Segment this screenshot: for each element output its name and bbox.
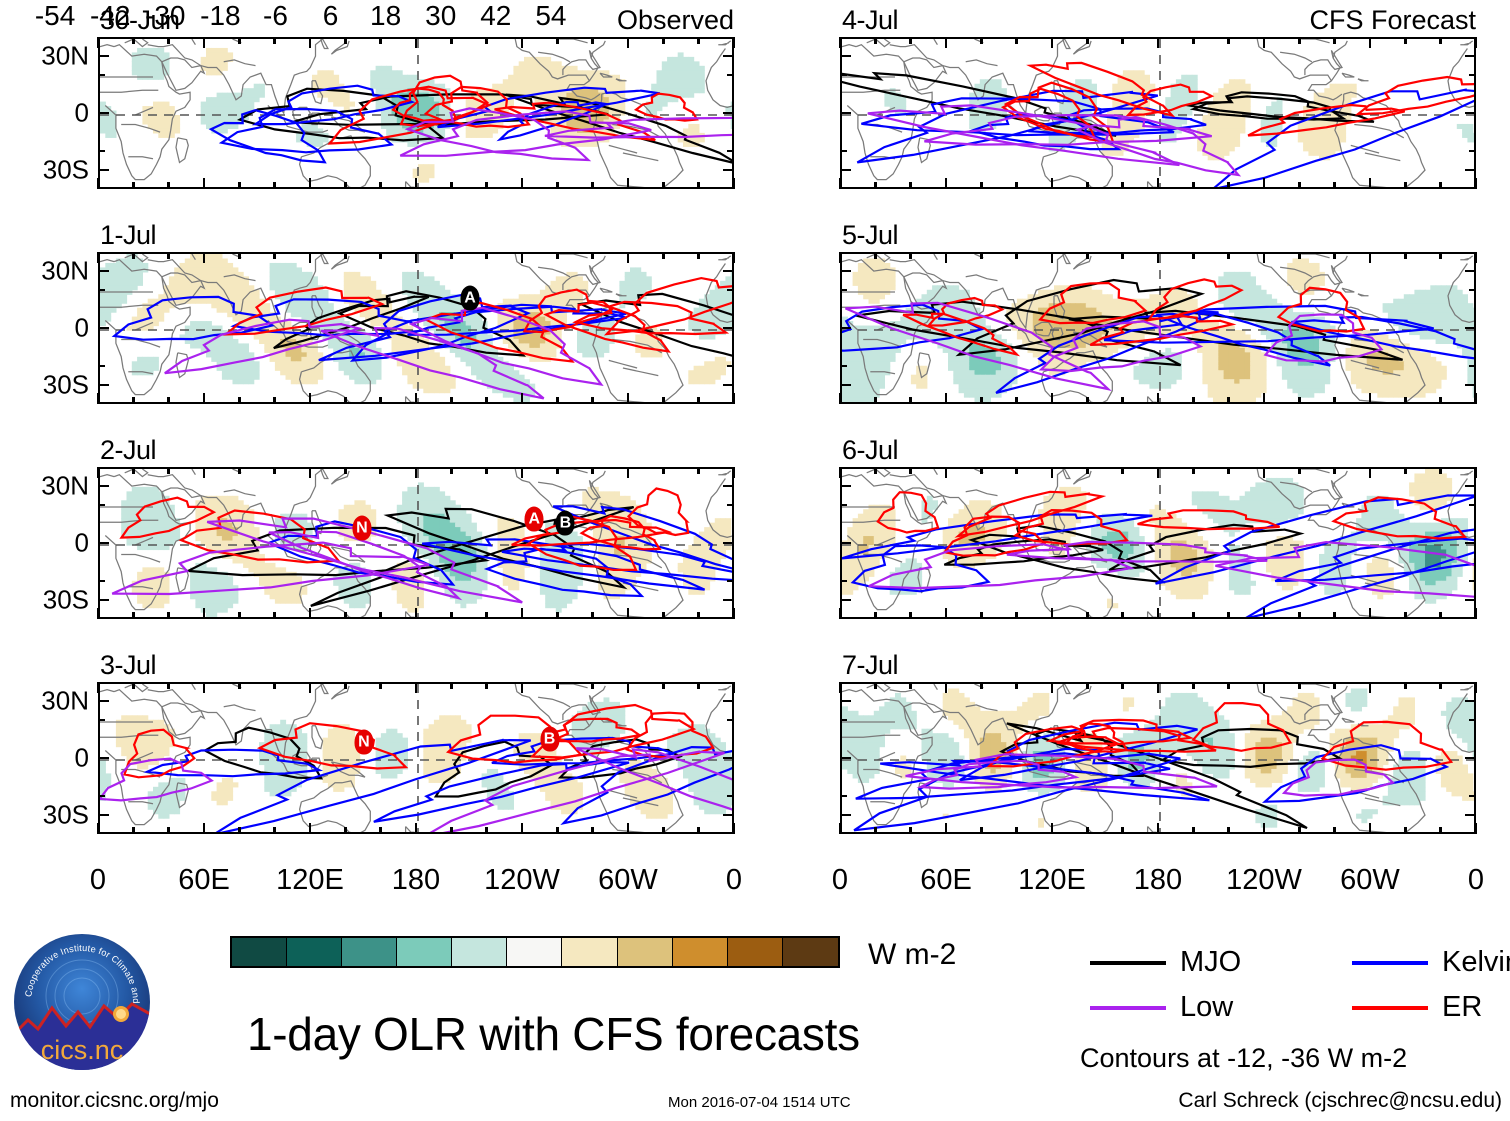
x-tick-major [1157, 467, 1160, 478]
contour-note: Contours at -12, -36 W m-2 [1080, 1043, 1407, 1074]
x-tick-major [1263, 467, 1266, 478]
x-tick-major [627, 178, 630, 189]
x-tick-minor [273, 37, 276, 44]
x-tick-major [521, 393, 524, 404]
y-tick-minor [98, 719, 105, 722]
x-tick-minor [874, 682, 877, 689]
x-tick-major [309, 608, 312, 619]
x-tick-minor [556, 827, 559, 834]
x-tick-major [945, 393, 948, 404]
storm-marker-n: N [354, 730, 373, 755]
x-tick-minor [909, 467, 912, 474]
colorbar-tick-label: -18 [200, 0, 240, 32]
x-tick-minor [662, 252, 665, 259]
x-tick-minor [1121, 397, 1124, 404]
x-tick-minor [1333, 252, 1336, 259]
y-tick-minor [1469, 580, 1476, 583]
x-tick-minor [1439, 182, 1442, 189]
y-axis-label: 0 [75, 313, 89, 344]
colorbar-band [562, 938, 617, 966]
x-tick-minor [132, 827, 135, 834]
x-tick-minor [556, 467, 559, 474]
x-tick-minor [238, 682, 241, 689]
x-tick-minor [485, 397, 488, 404]
x-tick-minor [1015, 182, 1018, 189]
y-tick [1465, 327, 1476, 330]
x-tick-minor [1121, 252, 1124, 259]
x-tick-minor [273, 252, 276, 259]
x-tick-minor [697, 37, 700, 44]
x-tick-major [733, 252, 736, 263]
x-tick-major [97, 37, 100, 48]
x-tick-minor [591, 182, 594, 189]
olr-anomaly-map [98, 252, 734, 404]
x-tick-minor [1439, 252, 1442, 259]
y-tick [1465, 757, 1476, 760]
y-tick [1465, 384, 1476, 387]
x-tick-major [415, 682, 418, 693]
olr-anomaly-map [840, 37, 1476, 189]
x-tick-minor [379, 612, 382, 619]
x-tick-minor [556, 182, 559, 189]
y-tick-minor [727, 719, 734, 722]
x-tick-minor [1192, 612, 1195, 619]
y-tick-minor [1469, 719, 1476, 722]
colorbar-ticklabels: -54-42-30-18-6618304254 [0, 0, 606, 36]
x-tick-minor [167, 612, 170, 619]
y-tick [723, 485, 734, 488]
y-tick [723, 757, 734, 760]
x-tick-minor [167, 467, 170, 474]
y-tick [98, 112, 109, 115]
x-tick-major [1051, 178, 1054, 189]
y-tick [840, 599, 851, 602]
x-tick-major [733, 178, 736, 189]
y-tick [723, 169, 734, 172]
x-tick-minor [874, 827, 877, 834]
footer-url[interactable]: monitor.cicsnc.org/mjo [10, 1089, 219, 1113]
y-tick-minor [840, 150, 847, 153]
x-tick-minor [344, 182, 347, 189]
x-tick-minor [132, 37, 135, 44]
panel-30-jun: 30-JunObserved30N030S [98, 37, 734, 189]
x-tick-major [627, 252, 630, 263]
x-tick-minor [1192, 397, 1195, 404]
y-tick-minor [840, 504, 847, 507]
colorbar-band [673, 938, 728, 966]
x-tick-minor [132, 612, 135, 619]
x-tick-minor [1121, 182, 1124, 189]
x-tick-major [1051, 393, 1054, 404]
x-tick-minor [874, 397, 877, 404]
x-tick-minor [697, 397, 700, 404]
x-tick-minor [238, 182, 241, 189]
panel-3-jul: 3-Jul30N030SNB [98, 682, 734, 834]
x-tick-major [1475, 823, 1478, 834]
y-axis-label: 30S [43, 155, 89, 186]
y-tick [1465, 485, 1476, 488]
y-tick [840, 485, 851, 488]
x-tick-minor [1404, 612, 1407, 619]
olr-anomaly-map [98, 37, 734, 189]
x-tick-minor [591, 467, 594, 474]
y-tick-minor [1469, 289, 1476, 292]
x-tick-major [1263, 608, 1266, 619]
y-tick-minor [727, 795, 734, 798]
x-tick-minor [874, 612, 877, 619]
x-tick-minor [1333, 397, 1336, 404]
x-tick-minor [1298, 827, 1301, 834]
x-tick-major [1263, 252, 1266, 263]
footer-author: Carl Schreck (cjschrec@ncsu.edu) [1178, 1089, 1502, 1113]
x-tick-minor [238, 467, 241, 474]
x-tick-minor [379, 682, 382, 689]
x-tick-minor [238, 827, 241, 834]
y-axis-label: 30S [43, 800, 89, 831]
x-axis-label: 60E [178, 864, 230, 897]
x-tick-minor [556, 252, 559, 259]
x-axis-label: 180 [392, 864, 440, 897]
x-tick-major [945, 682, 948, 693]
x-tick-major [839, 37, 842, 48]
x-tick-major [97, 823, 100, 834]
x-tick-major [1157, 682, 1160, 693]
x-tick-minor [1298, 682, 1301, 689]
y-tick-minor [1469, 795, 1476, 798]
y-tick [1465, 169, 1476, 172]
x-tick-minor [591, 612, 594, 619]
x-tick-minor [450, 612, 453, 619]
x-tick-minor [485, 467, 488, 474]
x-tick-minor [556, 612, 559, 619]
panel-date-label: 4-Jul [842, 5, 898, 36]
x-tick-minor [591, 37, 594, 44]
x-tick-minor [980, 37, 983, 44]
y-axis-label: 0 [75, 98, 89, 129]
x-tick-major [1263, 682, 1266, 693]
x-tick-major [97, 608, 100, 619]
x-tick-minor [1227, 397, 1230, 404]
panel-6-jul: 6-Jul [840, 467, 1476, 619]
colorbar-band [342, 938, 397, 966]
colorbar-units-label: W m-2 [868, 938, 956, 972]
x-tick-minor [167, 397, 170, 404]
x-tick-minor [132, 682, 135, 689]
y-tick [98, 55, 109, 58]
x-tick-minor [1086, 252, 1089, 259]
x-tick-major [1157, 37, 1160, 48]
x-tick-minor [379, 827, 382, 834]
x-tick-minor [1404, 397, 1407, 404]
x-tick-major [97, 682, 100, 693]
x-tick-minor [980, 827, 983, 834]
x-tick-minor [980, 682, 983, 689]
legend-line-swatch [1090, 1006, 1166, 1010]
x-tick-major [945, 178, 948, 189]
x-tick-major [1475, 608, 1478, 619]
y-tick [1465, 814, 1476, 817]
x-tick-major [839, 178, 842, 189]
x-tick-major [627, 393, 630, 404]
x-axis-label: 60W [598, 864, 658, 897]
x-tick-major [1475, 393, 1478, 404]
x-tick-minor [273, 612, 276, 619]
x-tick-minor [1333, 612, 1336, 619]
y-tick [723, 384, 734, 387]
x-tick-minor [450, 827, 453, 834]
olr-anomaly-map [840, 467, 1476, 619]
y-tick-minor [98, 289, 105, 292]
x-tick-minor [909, 397, 912, 404]
x-tick-minor [1227, 682, 1230, 689]
panel-date-label: 3-Jul [100, 650, 156, 681]
x-tick-minor [874, 252, 877, 259]
panel-date-label: 1-Jul [100, 220, 156, 251]
y-tick-minor [727, 74, 734, 77]
x-tick-minor [344, 612, 347, 619]
x-axis-label: 120W [484, 864, 560, 897]
x-tick-minor [379, 397, 382, 404]
x-tick-major [415, 178, 418, 189]
x-tick-major [1051, 252, 1054, 263]
x-tick-minor [591, 682, 594, 689]
y-tick [1465, 700, 1476, 703]
x-tick-major [1263, 37, 1266, 48]
x-tick-minor [238, 252, 241, 259]
x-tick-minor [1192, 182, 1195, 189]
x-tick-minor [1227, 182, 1230, 189]
x-tick-minor [1086, 682, 1089, 689]
x-tick-minor [379, 252, 382, 259]
x-tick-major [521, 252, 524, 263]
x-axis-right: 060E120E180120W60W0 [840, 850, 1476, 902]
x-tick-major [309, 682, 312, 693]
x-tick-minor [1298, 37, 1301, 44]
x-tick-minor [1227, 467, 1230, 474]
x-tick-minor [662, 37, 665, 44]
x-tick-minor [909, 827, 912, 834]
x-tick-major [1157, 178, 1160, 189]
x-tick-minor [697, 827, 700, 834]
x-tick-major [521, 178, 524, 189]
legend-item-kelvin: Kelvin [1352, 948, 1510, 977]
x-tick-minor [697, 467, 700, 474]
y-tick-minor [1469, 150, 1476, 153]
x-tick-minor [1121, 37, 1124, 44]
x-tick-minor [450, 467, 453, 474]
x-tick-major [1475, 682, 1478, 693]
x-tick-minor [450, 397, 453, 404]
legend-item-low: Low [1090, 993, 1233, 1022]
x-tick-minor [1015, 682, 1018, 689]
x-tick-major [309, 467, 312, 478]
x-tick-minor [1086, 612, 1089, 619]
x-axis-left: 060E120E180120W60W0 [98, 850, 734, 902]
y-tick [98, 327, 109, 330]
colorbar-band [728, 938, 783, 966]
y-tick [98, 485, 109, 488]
x-tick-minor [273, 182, 276, 189]
x-tick-minor [1121, 827, 1124, 834]
y-tick [1465, 112, 1476, 115]
x-tick-minor [344, 467, 347, 474]
x-tick-minor [485, 682, 488, 689]
x-tick-major [203, 823, 206, 834]
y-axis-label: 30N [41, 256, 89, 287]
x-tick-major [521, 823, 524, 834]
colorbar-band [287, 938, 342, 966]
x-tick-major [309, 178, 312, 189]
x-tick-minor [874, 182, 877, 189]
storm-marker-a: A [461, 285, 480, 310]
y-tick-minor [840, 580, 847, 583]
colorbar-band [397, 938, 452, 966]
x-tick-major [733, 467, 736, 478]
x-tick-major [945, 823, 948, 834]
x-tick-major [309, 393, 312, 404]
x-tick-major [415, 37, 418, 48]
x-tick-minor [1015, 612, 1018, 619]
olr-anomaly-map [840, 252, 1476, 404]
x-tick-minor [1227, 612, 1230, 619]
x-tick-minor [591, 827, 594, 834]
x-tick-major [1475, 37, 1478, 48]
x-tick-major [1051, 682, 1054, 693]
x-tick-minor [697, 182, 700, 189]
y-tick-minor [840, 365, 847, 368]
x-tick-minor [273, 827, 276, 834]
x-tick-minor [1298, 612, 1301, 619]
y-tick-minor [727, 580, 734, 583]
x-tick-minor [1404, 467, 1407, 474]
y-tick [98, 169, 109, 172]
x-tick-major [203, 393, 206, 404]
panel-5-jul: 5-Jul [840, 252, 1476, 404]
y-tick [723, 542, 734, 545]
x-tick-minor [1298, 397, 1301, 404]
x-tick-minor [662, 682, 665, 689]
y-tick [840, 55, 851, 58]
x-tick-major [1157, 252, 1160, 263]
colorbar-tick-label: 54 [535, 0, 566, 32]
x-tick-minor [132, 182, 135, 189]
x-tick-minor [1227, 827, 1230, 834]
x-tick-major [97, 252, 100, 263]
x-tick-minor [1439, 37, 1442, 44]
y-tick-minor [98, 150, 105, 153]
storm-marker-b: B [556, 511, 575, 536]
cics-nc-logo: Cooperative Institute for Climate and Sa… [14, 934, 150, 1070]
x-tick-major [203, 467, 206, 478]
x-tick-major [1051, 823, 1054, 834]
x-tick-major [733, 682, 736, 693]
x-tick-major [521, 682, 524, 693]
x-tick-major [1369, 467, 1372, 478]
x-tick-minor [980, 612, 983, 619]
olr-anomaly-map [98, 467, 734, 619]
x-axis-label: 60E [920, 864, 972, 897]
x-tick-minor [344, 37, 347, 44]
x-tick-major [627, 608, 630, 619]
x-tick-minor [662, 827, 665, 834]
y-tick-minor [98, 580, 105, 583]
y-tick-minor [727, 504, 734, 507]
x-tick-minor [1298, 182, 1301, 189]
x-tick-minor [1227, 252, 1230, 259]
y-tick [840, 270, 851, 273]
x-tick-minor [556, 37, 559, 44]
y-tick-minor [1469, 74, 1476, 77]
x-tick-minor [238, 397, 241, 404]
x-tick-minor [556, 397, 559, 404]
x-tick-major [1157, 823, 1160, 834]
colorbar-tick-label: -42 [90, 0, 130, 32]
x-tick-minor [1192, 37, 1195, 44]
y-tick-minor [727, 365, 734, 368]
y-tick-minor [98, 74, 105, 77]
legend-label: Low [1180, 993, 1233, 1022]
y-axis-label: 30S [43, 370, 89, 401]
y-tick-minor [840, 74, 847, 77]
x-axis-label: 0 [726, 864, 742, 897]
colorbar-tick-label: -54 [35, 0, 75, 32]
y-tick-minor [840, 719, 847, 722]
x-tick-major [203, 682, 206, 693]
x-tick-major [1369, 178, 1372, 189]
x-tick-major [1369, 252, 1372, 263]
x-tick-minor [1298, 467, 1301, 474]
x-tick-minor [1439, 612, 1442, 619]
x-tick-major [521, 37, 524, 48]
legend-line-swatch [1090, 961, 1166, 965]
legend-line-swatch [1352, 1006, 1428, 1010]
legend-label: ER [1442, 993, 1482, 1022]
x-tick-major [1157, 608, 1160, 619]
y-tick [840, 112, 851, 115]
x-tick-minor [1086, 397, 1089, 404]
x-tick-minor [344, 682, 347, 689]
x-axis-label: 120E [276, 864, 344, 897]
x-tick-minor [874, 467, 877, 474]
x-tick-major [1263, 393, 1266, 404]
x-tick-major [97, 393, 100, 404]
colorbar-tick-label: 42 [480, 0, 511, 32]
x-tick-minor [591, 252, 594, 259]
x-tick-minor [450, 252, 453, 259]
x-tick-major [1475, 178, 1478, 189]
x-tick-minor [980, 397, 983, 404]
x-tick-major [733, 608, 736, 619]
x-tick-minor [909, 182, 912, 189]
x-axis-label: 0 [1468, 864, 1484, 897]
x-axis-label: 180 [1134, 864, 1182, 897]
x-tick-minor [132, 397, 135, 404]
x-tick-minor [167, 37, 170, 44]
colorbar-band [232, 938, 287, 966]
forecast-header: CFS Forecast [1309, 5, 1476, 36]
y-tick-minor [1469, 365, 1476, 368]
y-tick [98, 270, 109, 273]
y-tick-minor [727, 150, 734, 153]
x-tick-major [97, 178, 100, 189]
x-tick-major [309, 252, 312, 263]
x-tick-major [733, 823, 736, 834]
y-tick [1465, 542, 1476, 545]
panel-date-label: 6-Jul [842, 435, 898, 466]
x-tick-minor [450, 182, 453, 189]
y-tick-minor [1469, 504, 1476, 507]
x-tick-minor [167, 682, 170, 689]
